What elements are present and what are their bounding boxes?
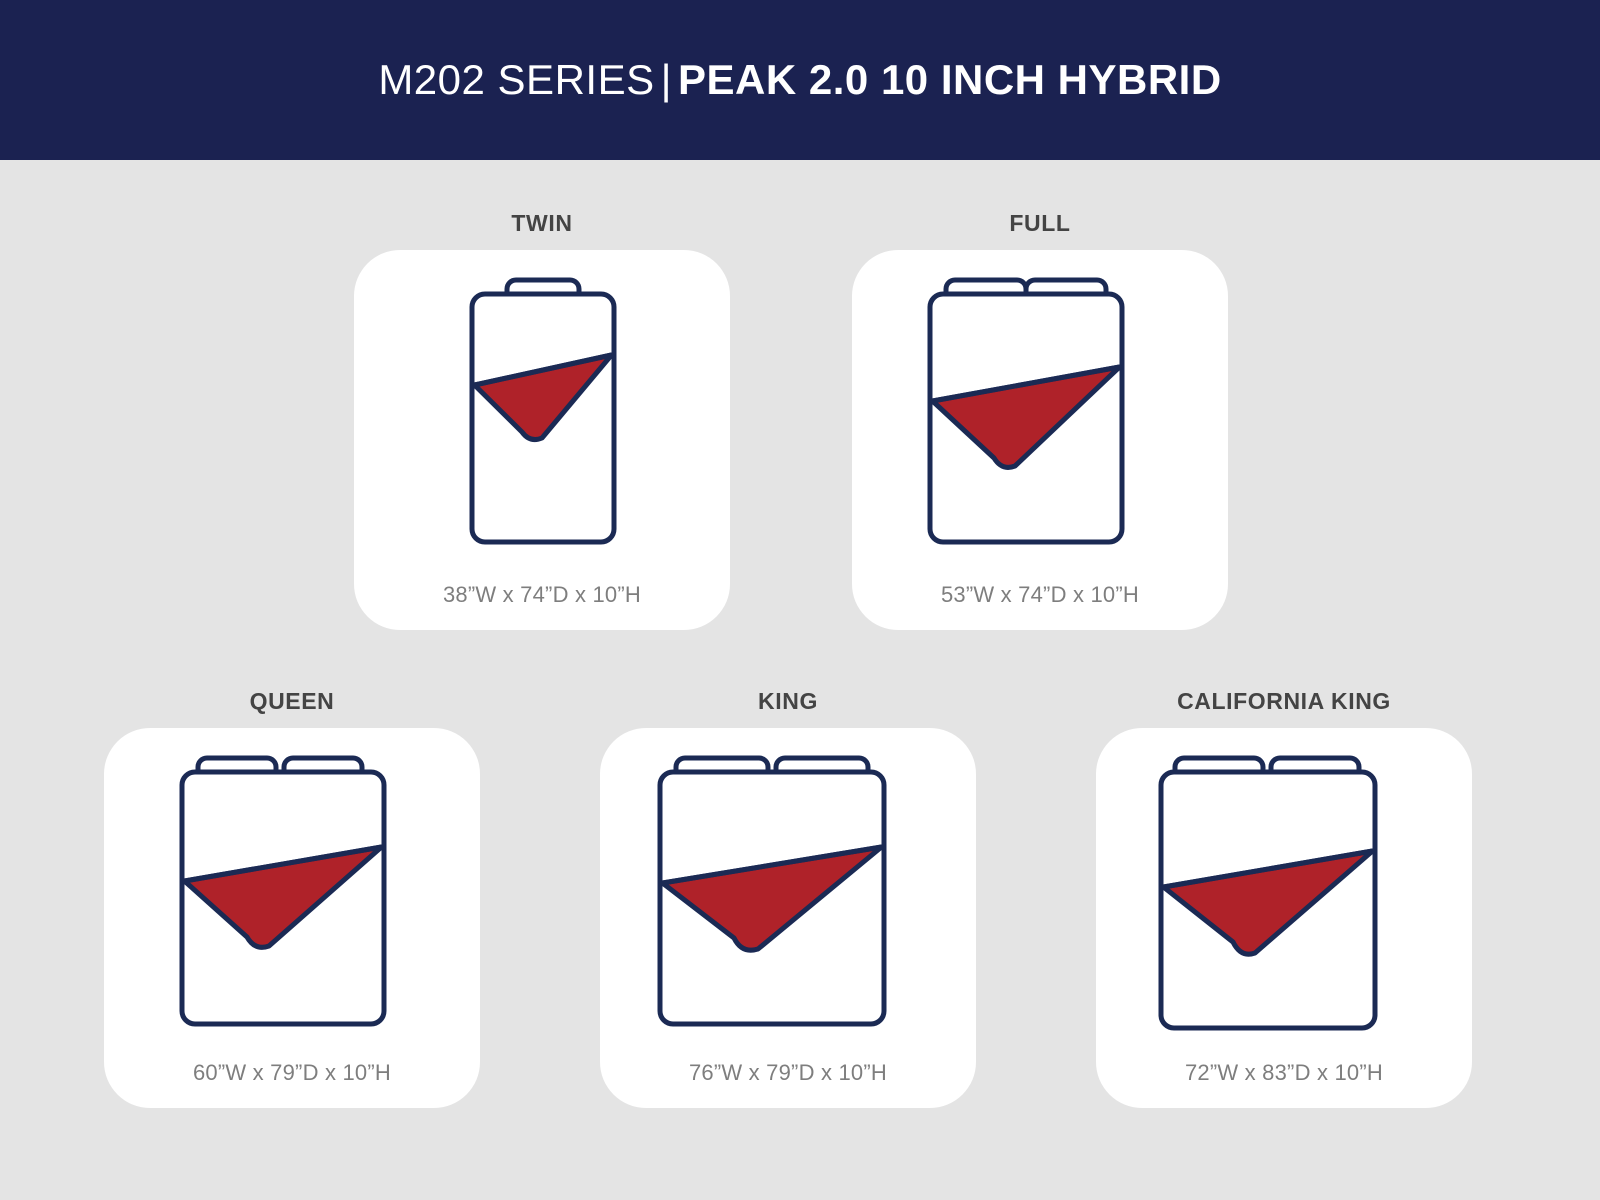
- bed-icon-queen: [162, 746, 422, 1046]
- header-product-text: PEAK 2.0 10 INCH HYBRID: [678, 56, 1222, 103]
- size-card-king[interactable]: 76”W x 79”D x 10”H: [600, 728, 976, 1108]
- header-separator: |: [655, 56, 678, 103]
- header-banner: M202 SERIES|PEAK 2.0 10 INCH HYBRID: [0, 0, 1600, 160]
- size-dimensions-king: 76”W x 79”D x 10”H: [689, 1060, 887, 1086]
- size-block-king: KING 76”W x 79”D x 10”H: [600, 686, 976, 1108]
- size-card-twin[interactable]: 38”W x 74”D x 10”H: [354, 250, 730, 630]
- size-block-twin: TWIN 38”W x 74”D x 10”H: [354, 208, 730, 630]
- header-series-text: M202 SERIES: [378, 56, 654, 103]
- size-block-full: FULL 53”W x 74”D x 10”H: [852, 208, 1228, 630]
- size-label-queen: QUEEN: [104, 686, 480, 716]
- page-title: M202 SERIES|PEAK 2.0 10 INCH HYBRID: [378, 59, 1221, 101]
- size-block-california-king: CALIFORNIA KING 72”W x 83”D x 10”H: [1096, 686, 1472, 1108]
- size-dimensions-twin: 38”W x 74”D x 10”H: [443, 582, 641, 608]
- size-dimensions-queen: 60”W x 79”D x 10”H: [193, 1060, 391, 1086]
- size-card-queen[interactable]: 60”W x 79”D x 10”H: [104, 728, 480, 1108]
- size-block-queen: QUEEN 60”W x 79”D x 10”H: [104, 686, 480, 1108]
- size-card-california-king[interactable]: 72”W x 83”D x 10”H: [1096, 728, 1472, 1108]
- size-card-full[interactable]: 53”W x 74”D x 10”H: [852, 250, 1228, 630]
- size-label-full: FULL: [852, 208, 1228, 238]
- size-label-twin: TWIN: [354, 208, 730, 238]
- bed-icon-california-king: [1149, 746, 1419, 1046]
- size-label-king: KING: [600, 686, 976, 716]
- bed-icon-full: [910, 268, 1170, 568]
- bed-icon-king: [648, 746, 928, 1046]
- size-grid: TWIN 38”W x 74”D x 10”H FULL: [0, 160, 1600, 1200]
- size-dimensions-full: 53”W x 74”D x 10”H: [941, 582, 1139, 608]
- size-dimensions-california-king: 72”W x 83”D x 10”H: [1185, 1060, 1383, 1086]
- bed-icon-twin: [412, 268, 672, 568]
- size-label-california-king: CALIFORNIA KING: [1096, 686, 1472, 716]
